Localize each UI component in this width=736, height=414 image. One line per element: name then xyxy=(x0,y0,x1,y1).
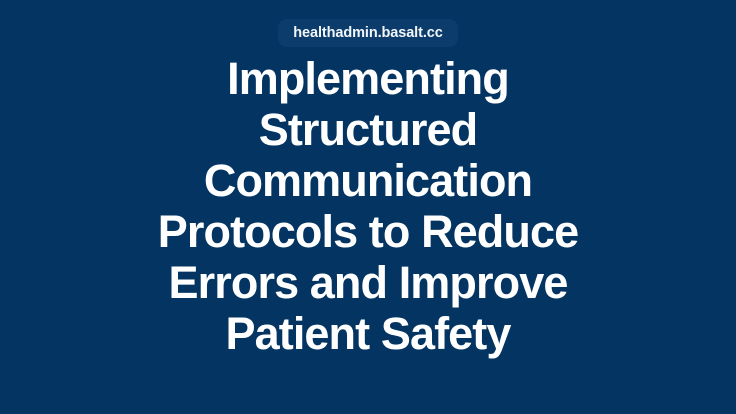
page-title-line: Implementing xyxy=(48,53,688,104)
page-title-line: Errors and Improve xyxy=(48,257,688,308)
page-title-line: Protocols to Reduce xyxy=(48,206,688,257)
title-slide: healthadmin.basalt.cc Implementing Struc… xyxy=(0,0,736,414)
page-title-line: Structured xyxy=(48,104,688,155)
page-title-line: Communication xyxy=(48,155,688,206)
page-title-line: Patient Safety xyxy=(48,308,688,359)
domain-badge-label: healthadmin.basalt.cc xyxy=(293,26,442,41)
domain-badge: healthadmin.basalt.cc xyxy=(278,19,457,47)
page-title: Implementing Structured Communication Pr… xyxy=(48,53,688,359)
